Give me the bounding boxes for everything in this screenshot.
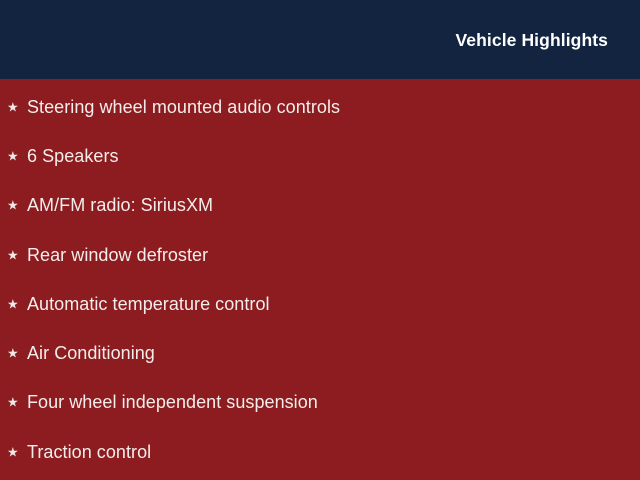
vehicle-highlights-slide: Vehicle Highlights ★ Steering wheel moun… [0, 0, 640, 480]
page-title: Vehicle Highlights [455, 29, 608, 51]
star-bullet-icon: ★ [7, 149, 23, 162]
star-bullet-icon: ★ [7, 199, 23, 212]
list-item-label: Steering wheel mounted audio controls [27, 96, 340, 118]
list-item: ★ Rear window defroster [0, 230, 640, 279]
list-item: ★ Air Conditioning [0, 328, 640, 377]
list-item: ★ Four wheel independent suspension [0, 378, 640, 427]
list-item: ★ Automatic temperature control [0, 279, 640, 328]
list-item: ★ Traction control [0, 427, 640, 476]
list-item-label: Four wheel independent suspension [27, 391, 318, 413]
list-item-label: Rear window defroster [27, 244, 208, 266]
list-item-label: Air Conditioning [27, 342, 155, 364]
star-bullet-icon: ★ [7, 297, 23, 310]
list-item: ★ AM/FM radio: SiriusXM [0, 181, 640, 230]
vehicle-highlights-list: ★ Steering wheel mounted audio controls … [0, 79, 640, 480]
star-bullet-icon: ★ [7, 248, 23, 261]
header-band: Vehicle Highlights [0, 0, 640, 79]
list-item-label: Traction control [27, 441, 151, 463]
star-bullet-icon: ★ [7, 347, 23, 360]
list-item-label: 6 Speakers [27, 145, 119, 167]
list-item-label: AM/FM radio: SiriusXM [27, 194, 213, 216]
star-bullet-icon: ★ [7, 100, 23, 113]
star-bullet-icon: ★ [7, 396, 23, 409]
star-bullet-icon: ★ [7, 445, 23, 458]
list-item: ★ 6 Speakers [0, 131, 640, 180]
list-item: ★ Steering wheel mounted audio controls [0, 82, 640, 131]
list-item-label: Automatic temperature control [27, 293, 270, 315]
